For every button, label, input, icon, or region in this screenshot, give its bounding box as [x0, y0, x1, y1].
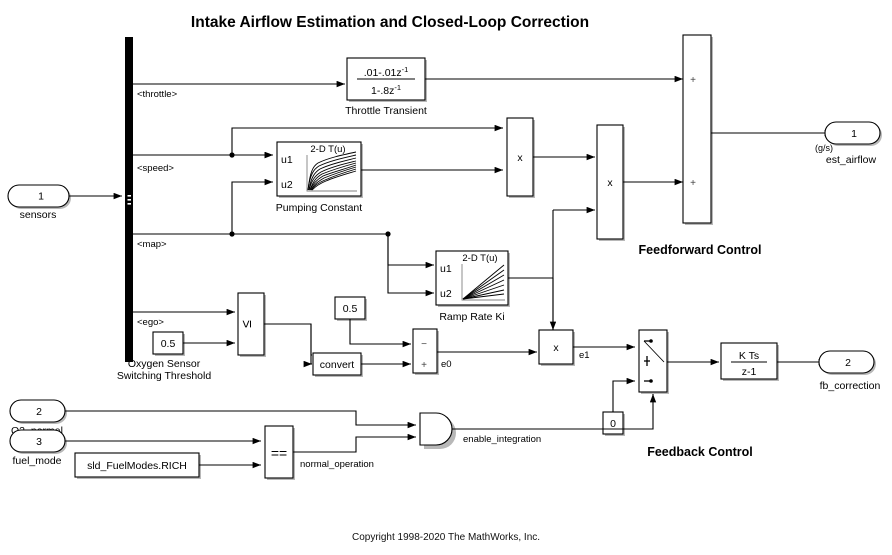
signal-label-ego: <ego> — [137, 317, 164, 328]
wire-half-to-sum-minus — [350, 319, 411, 344]
pumping-constant-in1-label: u1 — [281, 154, 293, 166]
wire-map-to-ramp-u2 — [388, 234, 434, 293]
product-pump-symbol: x — [517, 152, 523, 164]
bus-port-mark-2 — [128, 199, 132, 201]
product-e1-output-label: e1 — [579, 350, 590, 361]
simulink-diagram-canvas: Intake Airflow Estimation and Closed-Loo… — [0, 0, 892, 555]
switch-node-bottom — [649, 379, 653, 383]
outport-fb-correction-label: fb_correction — [820, 380, 881, 392]
inport-fuel-mode-label: fuel_mode — [12, 455, 61, 467]
oxygen-threshold-caption-line2: Switching Threshold — [117, 370, 212, 382]
const-zero-value: 0 — [610, 418, 616, 430]
inport-o2-normal-number: 2 — [36, 406, 42, 418]
signal-label-speed: <speed> — [137, 163, 174, 174]
inport-sensors-number: 1 — [38, 191, 44, 203]
wire-map-to-ramp-u1 — [388, 234, 434, 265]
inport-fuel-mode-number: 3 — [36, 436, 42, 448]
sum-feedforward-sign-bottom: + — [690, 178, 696, 189]
copyright-notice: Copyright 1998-2020 The MathWorks, Inc. — [352, 532, 540, 543]
ramp-rate-ki-in2-label: u2 — [440, 288, 452, 300]
compare-eq-symbol: == — [271, 445, 287, 461]
product-airflow-symbol: x — [607, 177, 613, 189]
outport-est-airflow-unit: (g/s) — [815, 143, 833, 153]
const-half-error-value: 0.5 — [343, 303, 358, 315]
ramp-rate-ki-caption: Ramp Rate Ki — [439, 311, 504, 323]
integrator-numerator: K Ts — [739, 350, 759, 362]
throttle-transient-caption: Throttle Transient — [345, 105, 427, 117]
sum-feedforward-sign-top: + — [690, 75, 696, 86]
section-label-feedforward: Feedforward Control — [639, 243, 762, 257]
oxygen-threshold-value: 0.5 — [161, 338, 176, 350]
signal-label-throttle: <throttle> — [137, 89, 178, 100]
and-gate-output-label: enable_integration — [463, 434, 541, 445]
wire-compare-le-out — [264, 324, 312, 355]
sum-error-output-label: e0 — [441, 359, 452, 370]
outport-est-airflow-label: est_airflow — [826, 154, 877, 166]
block-diagram-svg: Intake Airflow Estimation and Closed-Loo… — [0, 0, 892, 555]
outport-fb-correction-number: 2 — [845, 357, 851, 369]
signal-label-map: <map> — [137, 239, 167, 250]
const-fuelmode-value: sld_FuelModes.RICH — [87, 460, 187, 472]
sum-error-sign-bottom: + — [421, 360, 427, 371]
integrator-denominator: z-1 — [742, 366, 757, 378]
pumping-constant-header: 2-D T(u) — [310, 144, 345, 155]
pumping-constant-caption: Pumping Constant — [276, 202, 362, 214]
wire-speed-to-product — [232, 128, 503, 155]
oxygen-threshold-caption-line1: Oxygen Sensor — [128, 358, 201, 370]
diagram-title: Intake Airflow Estimation and Closed-Loo… — [191, 14, 589, 31]
compare-le-symbol: ≤ — [238, 320, 254, 328]
ramp-rate-ki-header: 2-D T(u) — [462, 253, 497, 264]
ramp-rate-ki-in1-label: u1 — [440, 263, 452, 275]
bus-port-mark-3 — [128, 203, 132, 205]
inport-sensors-label: sensors — [20, 209, 57, 221]
wire-o2-normal-to-and — [65, 411, 416, 425]
product-e1-symbol: x — [553, 342, 559, 354]
pumping-constant-in2-label: u2 — [281, 179, 293, 191]
throttle-transient-numerator: .01-.01z-1 — [364, 65, 409, 79]
wire-eq-to-and — [293, 437, 416, 452]
switch-node-top — [649, 339, 653, 343]
section-label-feedback: Feedback Control — [647, 445, 753, 459]
wire-map-to-pump-u2 — [232, 182, 273, 234]
outport-est-airflow-number: 1 — [851, 128, 857, 140]
wire-zero-to-switch — [613, 381, 635, 412]
sum-error-sign-top: − — [421, 339, 427, 350]
bus-port-mark-1 — [128, 195, 132, 197]
convert-label: convert — [320, 359, 355, 371]
sum-feedforward-block[interactable] — [683, 35, 711, 223]
and-gate-block[interactable] — [420, 413, 452, 445]
compare-eq-output-label: normal_operation — [300, 459, 374, 470]
